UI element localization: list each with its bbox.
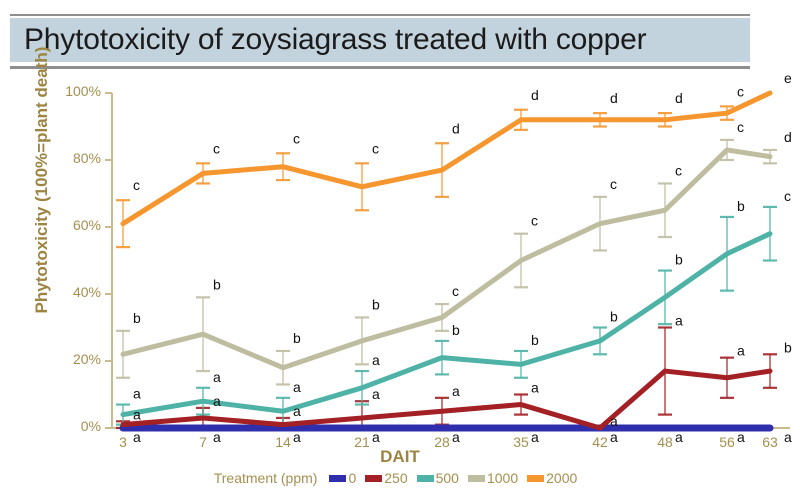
significance-letter: b bbox=[531, 332, 539, 348]
x-tick-label: 7 bbox=[183, 434, 223, 450]
significance-letter: a bbox=[452, 383, 460, 399]
plot-area: Phytotoxicity (100%=plant death) DAIT aa… bbox=[0, 0, 800, 498]
series-line-500 bbox=[123, 234, 770, 415]
significance-letter: a bbox=[610, 413, 618, 429]
significance-letter: a bbox=[372, 352, 380, 368]
significance-letter: c bbox=[372, 140, 379, 156]
significance-letter: b bbox=[293, 330, 301, 346]
figure-root: Phytotoxicity of zoysiagrass treated wit… bbox=[0, 0, 800, 498]
y-tick-label: 80% bbox=[49, 150, 101, 166]
y-tick-label: 100% bbox=[49, 83, 101, 99]
significance-letter: b bbox=[213, 276, 221, 292]
significance-letter: c bbox=[784, 188, 791, 204]
x-tick-label: 56 bbox=[707, 434, 747, 450]
significance-letter: b bbox=[784, 339, 792, 355]
significance-letter: b bbox=[610, 309, 618, 325]
legend-item-1000[interactable]: 1000 bbox=[468, 470, 518, 486]
x-tick-label: 28 bbox=[422, 434, 462, 450]
significance-letter: a bbox=[675, 313, 683, 329]
legend-label: 0 bbox=[348, 470, 356, 486]
legend-swatch-icon bbox=[468, 475, 485, 482]
x-axis-label: DAIT bbox=[0, 447, 800, 467]
chart-canvas: aaaaaaaaaaaaaaaaaaabaaaabbbbbcbbbbcccccd… bbox=[0, 0, 800, 498]
legend-item-500[interactable]: 500 bbox=[417, 470, 459, 486]
significance-letter: b bbox=[372, 296, 380, 312]
significance-letter: c bbox=[293, 130, 300, 146]
x-tick-label: 35 bbox=[501, 434, 541, 450]
x-tick-label: 21 bbox=[342, 434, 382, 450]
legend-title: Treatment (ppm) bbox=[214, 470, 318, 486]
significance-letter: c bbox=[675, 162, 682, 178]
legend-swatch-icon bbox=[329, 475, 346, 482]
legend-item-250[interactable]: 250 bbox=[365, 470, 407, 486]
error-bars-2000 bbox=[116, 106, 734, 247]
x-tick-label: 48 bbox=[645, 434, 685, 450]
significance-letter: d bbox=[452, 120, 460, 136]
legend-label: 2000 bbox=[546, 470, 577, 486]
significance-letter: c bbox=[610, 176, 617, 192]
x-tick-label: 14 bbox=[263, 434, 303, 450]
legend-swatch-icon bbox=[417, 475, 434, 482]
y-tick-label: 20% bbox=[49, 351, 101, 367]
significance-letter: c bbox=[737, 83, 744, 99]
significance-letter: c bbox=[133, 177, 140, 193]
legend-label: 500 bbox=[436, 470, 459, 486]
legend-item-0[interactable]: 0 bbox=[329, 470, 356, 486]
legend-label: 250 bbox=[384, 470, 407, 486]
significance-letter: d bbox=[675, 90, 683, 106]
significance-letter: c bbox=[452, 283, 459, 299]
significance-letter: a bbox=[133, 406, 141, 422]
legend-item-2000[interactable]: 2000 bbox=[527, 470, 577, 486]
y-tick-label: 0% bbox=[49, 418, 101, 434]
significance-letter: c bbox=[213, 140, 220, 156]
legend-label: 1000 bbox=[487, 470, 518, 486]
significance-letter: b bbox=[133, 310, 141, 326]
x-tick-label: 42 bbox=[580, 434, 620, 450]
significance-letter: d bbox=[784, 129, 792, 145]
significance-letter: c bbox=[737, 119, 744, 135]
significance-letter: a bbox=[213, 369, 221, 385]
chart-legend: Treatment (ppm) 025050010002000 bbox=[0, 470, 800, 486]
significance-letter: b bbox=[737, 198, 745, 214]
significance-letter: a bbox=[213, 393, 221, 409]
y-tick-label: 60% bbox=[49, 217, 101, 233]
y-tick-label: 40% bbox=[49, 284, 101, 300]
series-line-1000 bbox=[123, 150, 770, 368]
significance-letter: a bbox=[372, 386, 380, 402]
x-tick-label: 3 bbox=[103, 434, 143, 450]
x-tick-label: 63 bbox=[750, 434, 790, 450]
significance-letter: a bbox=[133, 386, 141, 402]
significance-letter: d bbox=[531, 87, 539, 103]
significance-letter: b bbox=[675, 252, 683, 268]
legend-swatch-icon bbox=[527, 475, 544, 482]
significance-letter: e bbox=[784, 70, 792, 86]
significance-letter: a bbox=[737, 343, 745, 359]
significance-letter: a bbox=[293, 403, 301, 419]
significance-letter: a bbox=[531, 380, 539, 396]
significance-letter: b bbox=[452, 322, 460, 338]
significance-letter: a bbox=[293, 379, 301, 395]
significance-letter: c bbox=[531, 213, 538, 229]
legend-swatch-icon bbox=[365, 475, 382, 482]
significance-letter: d bbox=[610, 90, 618, 106]
